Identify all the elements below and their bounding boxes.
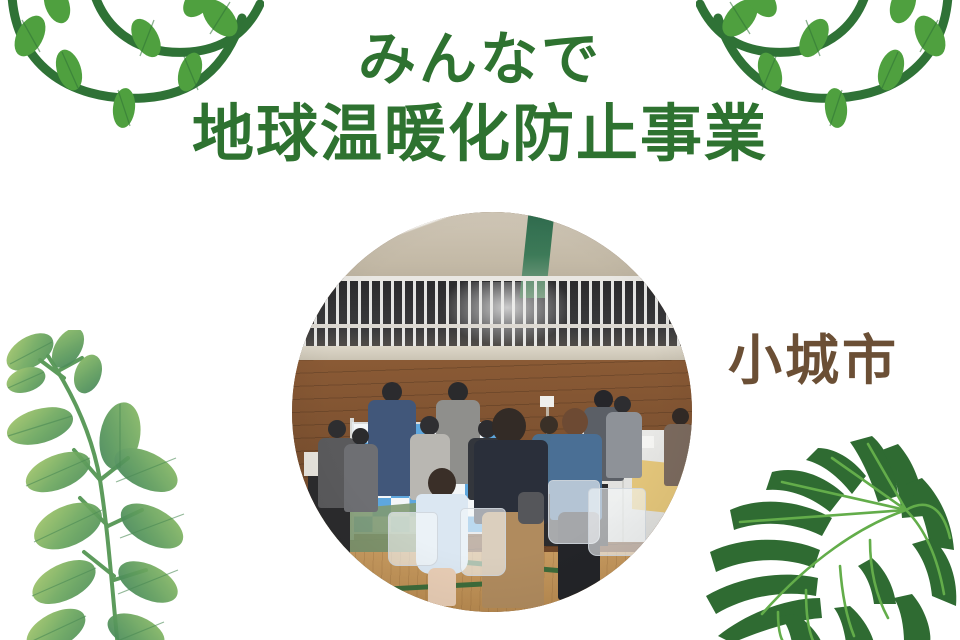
photo-wall-box [540, 396, 554, 407]
poster-canvas: みんなで 地球温暖化防止事業 小城市 [0, 0, 960, 640]
photo-person [562, 408, 588, 436]
title-line-2: 地球温暖化防止事業 [0, 98, 960, 170]
photo-plastic-bag [460, 508, 506, 576]
photo-person [606, 412, 642, 478]
photo-person [540, 416, 558, 434]
photo-person [492, 408, 526, 444]
photo-shoulder-bag [518, 492, 544, 524]
photo-ceiling-slope [292, 212, 692, 298]
page-title: みんなで 地球温暖化防止事業 [0, 26, 960, 170]
city-name-label: 小城市 [728, 330, 899, 392]
photo-person [420, 416, 439, 435]
photo-plastic-bag [388, 512, 438, 566]
photo-person [448, 382, 468, 402]
event-photo-circle [292, 212, 692, 612]
title-line-1: みんなで [0, 26, 960, 92]
photo-plastic-bag [588, 488, 646, 556]
photo-railing-mid-rail [292, 324, 692, 328]
photo-person [382, 382, 402, 402]
photo-person [614, 396, 631, 413]
photo-person [344, 444, 378, 512]
event-photo-content [292, 212, 692, 612]
photo-person [328, 420, 346, 438]
photo-person [352, 428, 369, 445]
watercolor-branch-icon [0, 330, 236, 640]
photo-child-legs [428, 568, 456, 606]
photo-person [664, 424, 692, 486]
monstera-leaf-icon [700, 418, 960, 640]
photo-person [672, 408, 689, 425]
